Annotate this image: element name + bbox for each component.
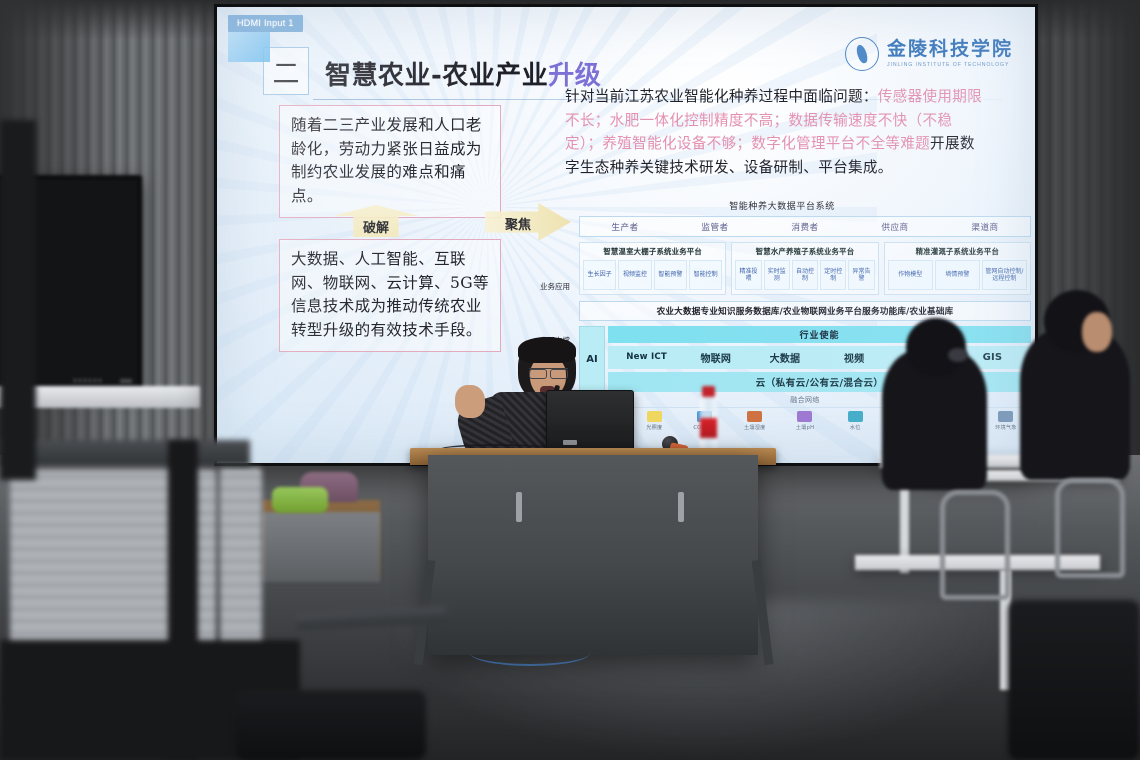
callout-box-technology: 大数据、人工智能、互联网、物联网、云计算、5G等信息技术成为推动传统农业转型升级… [279,239,501,352]
podium-handle-right [678,492,684,522]
module-chip: 定时控制 [820,260,846,290]
slide-title: 智慧农业-农业产业升级 [325,55,601,92]
tech-item: New ICT [614,353,679,362]
presenter-hand [455,385,485,418]
side-cabinet-body [262,512,380,582]
actor-cell: 监管者 [670,221,760,233]
sensor-soil-ph: 土壤pH [780,411,830,431]
module-chip: 精准投喂 [735,260,761,290]
module-chip-row: 生长因子 视频监控 智能预警 智能控制 [583,260,722,290]
floor-cable [470,640,590,666]
sensor-label: 土壤湿度 [744,424,766,431]
school-name-cn: 金陵科技学院 [887,40,1013,60]
sensor-label: 土壤pH [796,424,814,431]
database-layer-bar: 农业大数据专业知识服务数据库/农业物联网业务平台服务功能库/农业基础库 [579,301,1031,321]
module-chip: 管网自动控制/远程控制 [982,260,1027,290]
module-chip: 生长因子 [583,260,616,290]
side-label-business: 业务应用 [535,282,575,291]
sensor-label: 水位 [850,424,861,431]
module-chip: 视频监控 [618,260,651,290]
podium [428,455,758,655]
student-front-right-head [906,318,966,376]
module-chip: 自动控制 [792,260,818,290]
callout-box-challenge: 随着二三产业发展和人口老龄化，劳动力紧张日益成为制约农业发展的难点和痛点。 [279,105,501,218]
display-brand-badge [120,379,132,383]
module-chip-row: 作物模型 墒情预警 管网自动控制/远程控制 [888,260,1027,290]
chapter-number: 二 [273,52,300,91]
presenter-glasses [529,368,568,376]
light-icon [647,411,662,422]
green-bag [272,487,328,513]
weather-icon [998,411,1013,422]
tech-item: 大数据 [752,350,817,365]
hdmi-overlay-block [228,32,270,62]
actor-cell: 供应商 [850,221,940,233]
ai-column: AI [579,326,605,392]
student-back-right-body [1020,330,1130,480]
soil-ph-icon [797,411,812,422]
foreground-chair-right [1008,600,1140,760]
actor-cell: 消费者 [760,221,850,233]
water-bottle-cap [702,386,715,397]
subsystem-aquaculture: 智慧水产养殖子系统业务平台 精准投喂 实时监测 自动控制 定时控制 异常告警 [731,242,878,295]
school-logo: 金陵科技学院 JINLING INSTITUTE OF TECHNOLOGY [845,37,1013,71]
podium-handle-left [516,492,522,522]
problem-statement-paragraph: 针对当前江苏农业智能化种养过程中面临问题：传感器使用期限不长；水肥一体化控制精度… [565,85,985,180]
module-chip: 智能控制 [689,260,722,290]
student-chair-back [1055,478,1125,578]
actor-cell: 生产者 [580,221,670,233]
tech-item: 物联网 [683,350,748,365]
actor-row: 生产者 监管者 消费者 供应商 渠道商 [579,216,1031,237]
module-chip: 智能预警 [654,260,687,290]
presenter-hair [518,337,576,363]
module-chip-row: 精准投喂 实时监测 自动控制 定时控制 异常告警 [735,260,874,290]
school-name-en: JINLING INSTITUTE OF TECHNOLOGY [887,62,1013,68]
tech-item: 视频 [822,350,887,365]
sensor-soil-moisture: 土壤湿度 [730,411,780,431]
sensor-water-level: 水位 [830,411,880,431]
student-chair-front [940,490,1010,600]
paragraph-lead: 针对当前江苏农业智能化种养过程中面临问题： [565,88,878,105]
water-bottle-label [700,418,717,438]
laptop-badge [563,440,577,445]
enablement-header: 行业使能 [608,326,1031,343]
sensor-label: 光照度 [646,424,662,431]
sensor-label: 环境气象 [995,424,1017,431]
foreground-chair-bottom [236,690,426,760]
subsystem-greenhouse: 智慧温室大棚子系统业务平台 生长因子 视频监控 智能预警 智能控制 [579,242,726,295]
subsystem-title: 智慧温室大棚子系统业务平台 [583,246,722,257]
slide-title-main: 智慧农业-农业产业 [325,61,548,91]
subsystem-title: 精准灌溉子系统业务平台 [888,246,1027,257]
foreground-edge-left [0,120,36,480]
student-front-right-ponytail [948,348,968,362]
actor-cell: 渠道商 [940,221,1030,233]
module-chip: 墒情预警 [935,260,980,290]
module-chip: 作物模型 [888,260,933,290]
lecture-room-photo: HDMI Input 1 二 智慧农业-农业产业升级 金陵科技学院 JINLIN… [0,0,1140,760]
water-level-icon [848,411,863,422]
arrow-up-breakthrough: 破解 [313,205,439,237]
soil-moisture-icon [747,411,762,422]
subsystem-row: 智慧温室大棚子系统业务平台 生长因子 视频监控 智能预警 智能控制 智慧水产养殖… [579,242,1031,295]
display-speaker-grille [74,379,104,382]
module-chip: 异常告警 [848,260,874,290]
hdmi-input-badge: HDMI Input 1 [228,15,303,32]
sensor-light: 光照度 [629,411,679,431]
school-emblem-icon [845,37,879,71]
subsystem-title: 智慧水产养殖子系统业务平台 [735,246,874,257]
foreground-desk-top-left [0,440,250,466]
laptop-screen [546,390,634,452]
subsystem-irrigation: 精准灌溉子系统业务平台 作物模型 墒情预警 管网自动控制/远程控制 [884,242,1031,295]
arrow-up-label: 破解 [313,217,439,236]
diagram-title: 智能种养大数据平台系统 [533,199,1031,212]
module-chip: 实时监测 [764,260,790,290]
student-back-right-face [1082,312,1112,352]
